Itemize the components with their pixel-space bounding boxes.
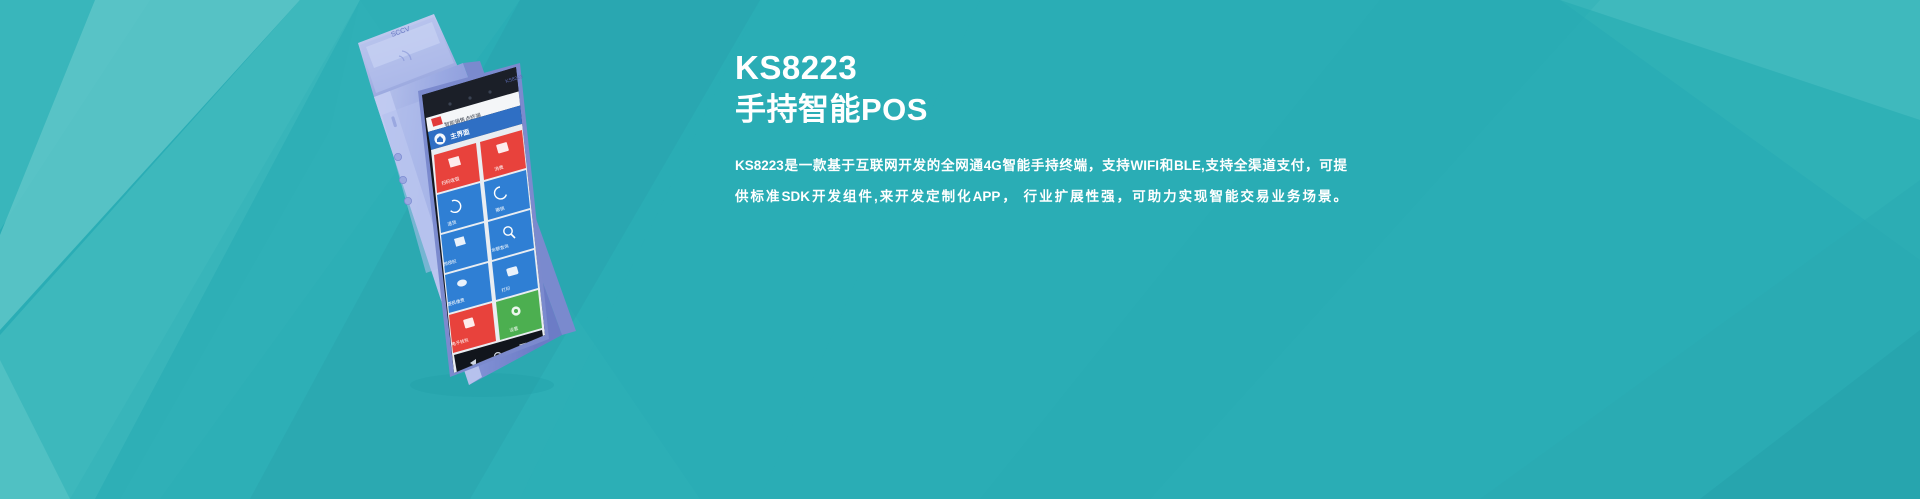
device-screen: 智能销售点终端 主界面 扫码收银 消费 退货 撤销 [422, 67, 545, 373]
banner-copy: KS8223 手持智能POS KS8223是一款基于互联网开发的全网通4G智能手… [735, 48, 1355, 212]
product-description-line-2: 供标准SDK开发组件,来开发定制化APP， 行业扩展性强，可助力实现智能交易业务… [735, 181, 1347, 212]
product-description-line-1: KS8223是一款基于互联网开发的全网通4G智能手持终端，支持WIFI和BLE,… [735, 150, 1347, 181]
product-code-title: KS8223 [735, 48, 1355, 88]
product-description: KS8223是一款基于互联网开发的全网通4G智能手持终端，支持WIFI和BLE,… [735, 150, 1347, 212]
pos-device: SCCV [330, 5, 630, 405]
product-banner: SCCV [0, 0, 1920, 499]
product-name-title: 手持智能POS [735, 88, 1355, 132]
